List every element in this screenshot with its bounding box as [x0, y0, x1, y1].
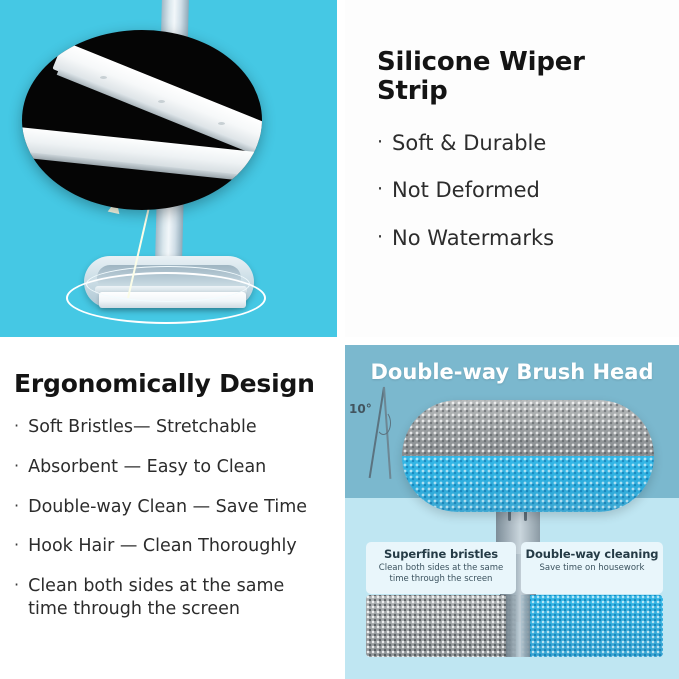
brush-pad-blue — [402, 456, 654, 512]
brush-head-pill — [402, 400, 654, 512]
panel-silicone-wiper-strip: Silicone Wiper Strip · Soft & Durable · … — [345, 0, 679, 337]
angle-arc-icon — [376, 411, 391, 435]
bullet-text: Double-way Clean — Save Time — [28, 496, 307, 519]
infographic-sheet: Silicone Wiper Strip · Soft & Durable · … — [0, 0, 679, 679]
bullet-text: Not Deformed — [392, 178, 540, 203]
closeup-oval-inset — [22, 30, 262, 210]
bullet-dot-icon: · — [14, 456, 19, 476]
list-item: · Absorbent — Easy to Clean — [14, 456, 329, 479]
silicone-strip-title: Silicone Wiper Strip — [377, 48, 661, 105]
bullet-dot-icon: · — [14, 535, 19, 555]
bullet-text: Soft & Durable — [392, 131, 546, 156]
silicone-strip-bullet-list: · Soft & Durable · Not Deformed · No Wat… — [377, 131, 661, 251]
list-item: · Soft & Durable — [377, 131, 661, 156]
brush-head-title: Double-way Brush Head — [345, 360, 679, 384]
list-item: · Double-way Clean — Save Time — [14, 496, 329, 519]
panel-product-photo — [0, 0, 337, 337]
brush-handle-overlay — [506, 595, 530, 657]
caption-heading: Superfine bristles — [366, 542, 516, 561]
strip-mark — [158, 100, 165, 103]
panel-double-way-brush-head: Double-way Brush Head 10° Superfine bris… — [345, 345, 679, 679]
caption-heading: Double-way cleaning — [521, 542, 663, 561]
caption-box-double-way-cleaning: Double-way cleaning Save time on housewo… — [521, 542, 663, 594]
list-item: · Clean both sides at the same time thro… — [14, 575, 329, 621]
caption-box-superfine-bristles: Superfine bristles Clean both sides at t… — [366, 542, 516, 594]
panel-ergonomically-design: Ergonomically Design · Soft Bristles— St… — [0, 345, 337, 679]
bullet-text: Clean both sides at the same time throug… — [28, 575, 329, 621]
bullet-dot-icon: · — [377, 131, 383, 155]
strip-mark — [100, 76, 107, 79]
callout-ellipse-inner — [86, 266, 250, 302]
texture-swatch-blue — [521, 595, 663, 657]
list-item: · Not Deformed — [377, 178, 661, 203]
bullet-dot-icon: · — [377, 226, 383, 250]
angle-label: 10° — [349, 402, 372, 416]
caption-subtext: Save time on housework — [521, 561, 663, 574]
brush-pad-gray — [402, 400, 654, 456]
bullet-text: Hook Hair — Clean Thoroughly — [28, 535, 297, 558]
bullet-text: Soft Bristles— Stretchable — [28, 416, 257, 439]
texture-swatch-gray — [366, 595, 516, 657]
bullet-text: No Watermarks — [392, 226, 554, 251]
list-item: · Soft Bristles— Stretchable — [14, 416, 329, 439]
list-item: · No Watermarks — [377, 226, 661, 251]
bullet-dot-icon: · — [377, 178, 383, 202]
bullet-dot-icon: · — [14, 416, 19, 436]
list-item: · Hook Hair — Clean Thoroughly — [14, 535, 329, 558]
strip-mark — [218, 122, 225, 125]
ergonomic-bullet-list: · Soft Bristles— Stretchable · Absorbent… — [14, 416, 329, 621]
ergonomic-title: Ergonomically Design — [14, 369, 329, 398]
bullet-text: Absorbent — Easy to Clean — [28, 456, 266, 479]
bullet-dot-icon: · — [14, 496, 19, 516]
caption-subtext: Clean both sides at the same time throug… — [366, 561, 516, 586]
bullet-dot-icon: · — [14, 575, 19, 595]
